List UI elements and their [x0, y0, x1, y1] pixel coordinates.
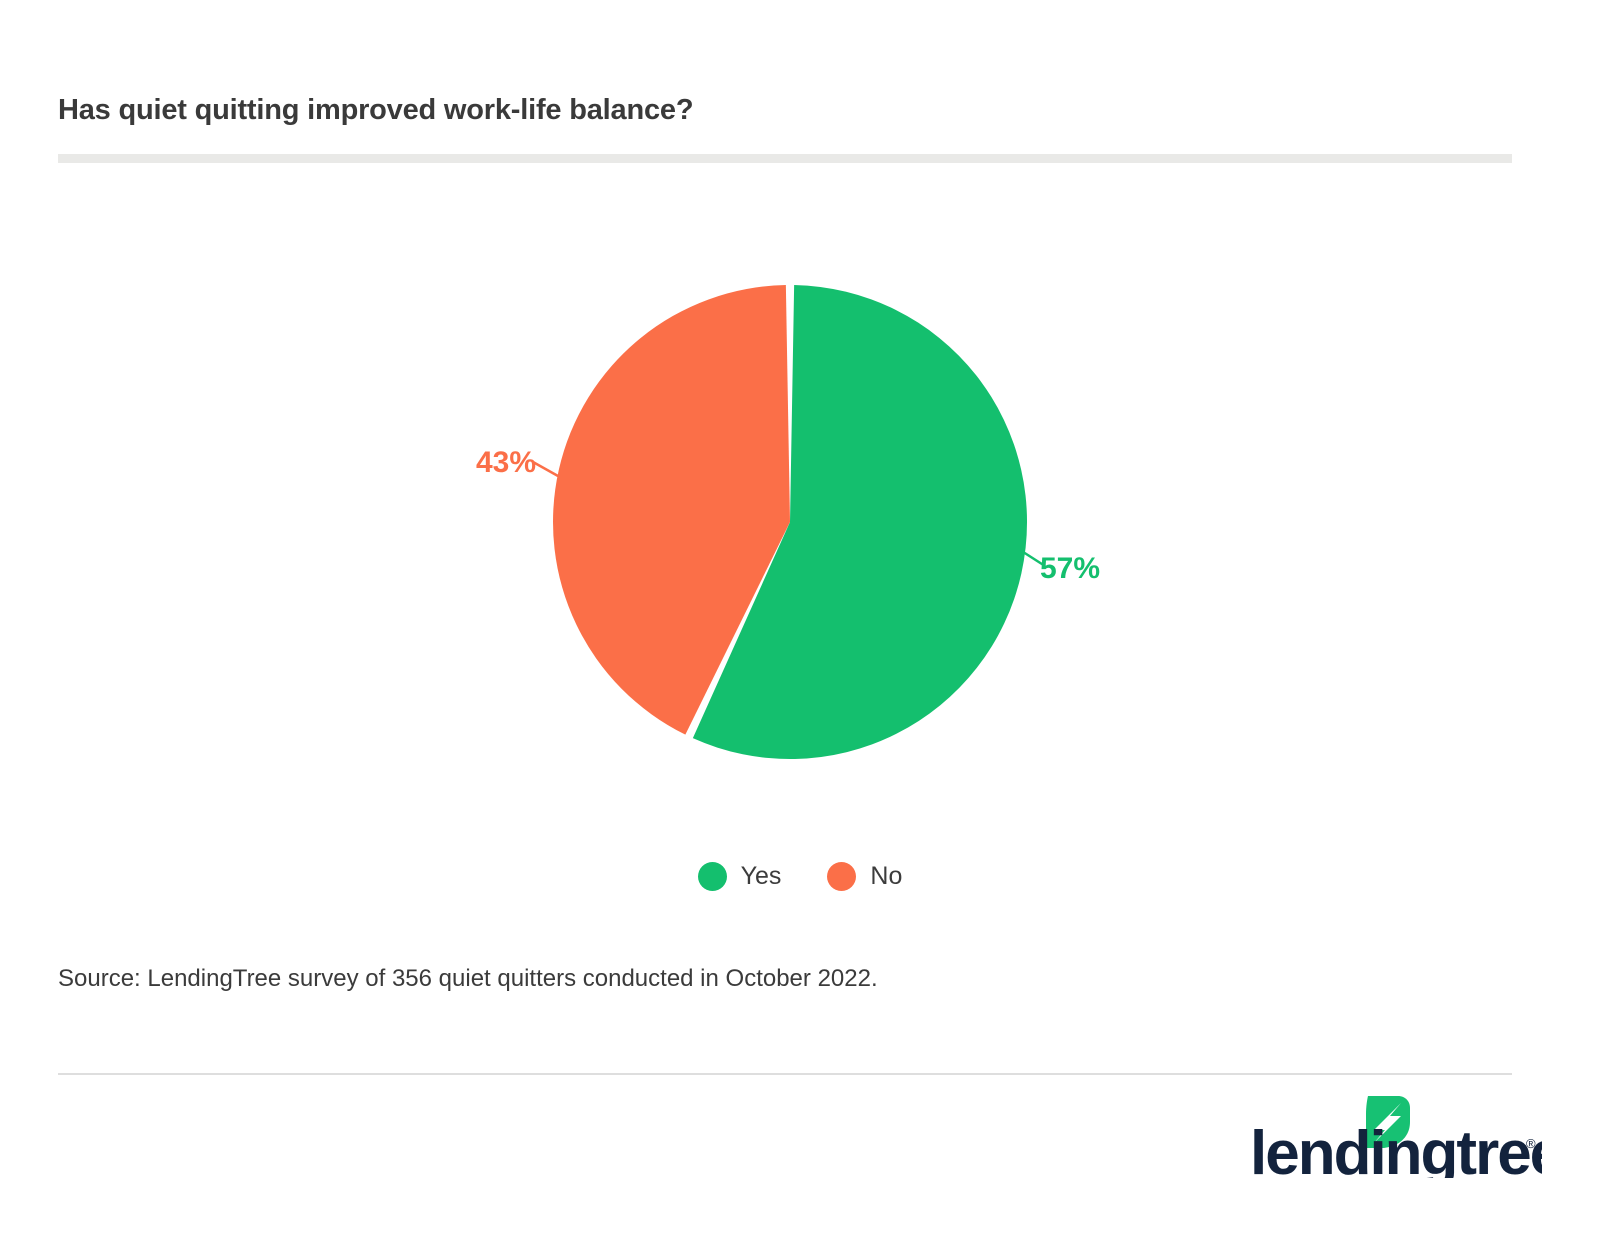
legend-swatch-yes-icon	[698, 862, 727, 891]
divider-bottom	[58, 1073, 1512, 1075]
logo-registered-mark: ®	[1526, 1136, 1536, 1151]
pie-label-yes: 57%	[1040, 552, 1100, 585]
lendingtree-logo[interactable]: lendingtree ®	[1250, 1098, 1542, 1178]
page-title: Has quiet quitting improved work-life ba…	[58, 94, 693, 127]
legend-label-no: No	[870, 864, 902, 889]
chart-legend: Yes No	[0, 862, 1600, 891]
pie-chart-svg: 57% 43%	[0, 200, 1600, 820]
source-note: Source: LendingTree survey of 356 quiet …	[58, 965, 878, 993]
legend-swatch-no-icon	[827, 862, 856, 891]
infographic-page: Has quiet quitting improved work-life ba…	[0, 0, 1600, 1242]
legend-item-yes[interactable]: Yes	[698, 862, 782, 891]
divider-top	[58, 154, 1512, 163]
pie-label-no: 43%	[476, 446, 536, 479]
legend-item-no[interactable]: No	[827, 862, 902, 891]
legend-label-yes: Yes	[741, 864, 782, 889]
pie-chart: 57% 43%	[0, 200, 1600, 820]
lendingtree-logo-svg: lendingtree ®	[1250, 1086, 1542, 1178]
logo-wordmark: lendingtree	[1250, 1119, 1542, 1178]
leader-line-no	[533, 462, 558, 476]
